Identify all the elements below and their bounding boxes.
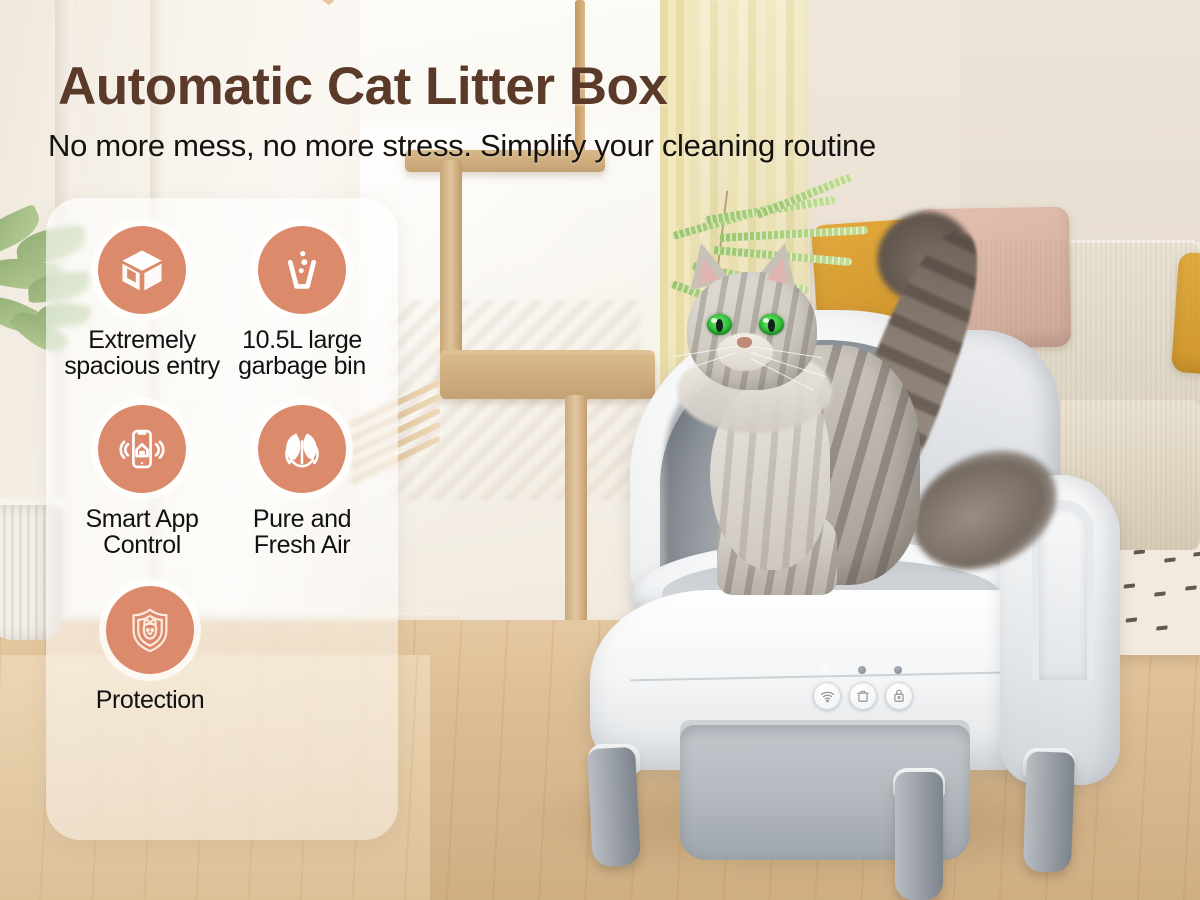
feature-item-spacious-entry[interactable]: Extremely spacious entry xyxy=(62,226,222,379)
litter-box-leg xyxy=(587,747,641,867)
silver-tabby-cat xyxy=(655,230,1075,630)
smart-phone-app-icon xyxy=(98,405,186,493)
wifi-button[interactable] xyxy=(813,682,841,710)
feature-label: Pure and Fresh Air xyxy=(222,506,382,558)
cat-tree-post xyxy=(440,160,462,360)
cat-eye-right xyxy=(759,314,784,335)
feature-item-protection[interactable]: Protection xyxy=(70,586,230,713)
trash-bin-icon xyxy=(258,226,346,314)
bin-icon xyxy=(856,689,870,703)
fresh-leaf-recycle-icon xyxy=(258,405,346,493)
cat-eye-left xyxy=(707,314,732,335)
feature-label: 10.5L large garbage bin xyxy=(222,327,382,379)
feature-highlights-panel: Extremely spacious entry 10.5L large gar… xyxy=(46,198,398,840)
litter-box-leg xyxy=(1023,751,1075,873)
feature-label: Protection xyxy=(96,687,205,713)
feature-item-garbage-bin[interactable]: 10.5L large garbage bin xyxy=(222,226,382,379)
feature-label: Smart App Control xyxy=(62,506,222,558)
page-title: Automatic Cat Litter Box xyxy=(58,56,667,117)
feature-item-fresh-air[interactable]: Pure and Fresh Air xyxy=(222,405,382,558)
bin-button[interactable] xyxy=(849,682,877,710)
led-clean xyxy=(894,666,902,674)
product-marketing-image: Automatic Cat Litter Box No more mess, n… xyxy=(0,0,1200,900)
cat-head xyxy=(687,272,817,390)
led-wifi xyxy=(822,666,830,674)
wifi-icon xyxy=(820,689,835,704)
cube-icon xyxy=(98,226,186,314)
control-panel xyxy=(813,666,913,712)
shield-cat-icon xyxy=(106,586,194,674)
page-subtitle: No more mess, no more stress. Simplify y… xyxy=(48,128,876,164)
cat-nose-icon xyxy=(737,337,752,348)
feature-item-smart-app[interactable]: Smart App Control xyxy=(62,405,222,558)
litter-box-leg xyxy=(895,772,943,900)
cat-clean-icon xyxy=(892,689,906,703)
feature-label: Extremely spacious entry xyxy=(62,327,222,379)
clean-button[interactable] xyxy=(885,682,913,710)
led-bin xyxy=(858,666,866,674)
